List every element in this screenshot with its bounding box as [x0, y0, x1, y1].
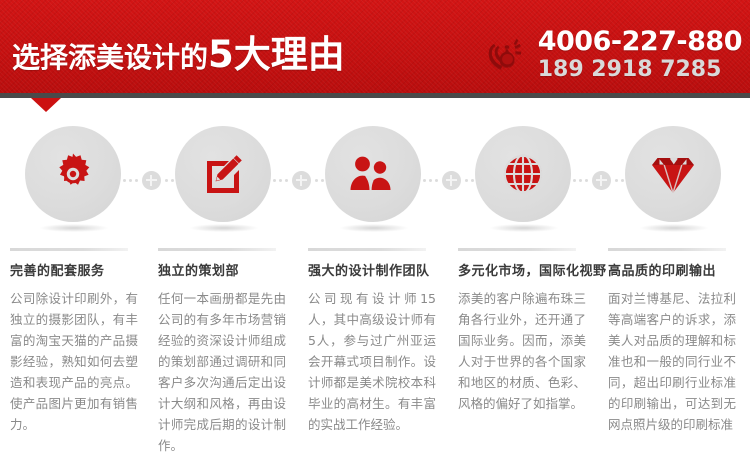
header-notch-arrow [31, 98, 61, 112]
feature-column-5: 高品质的印刷输出 面对兰博基尼、法拉利等高端客户的诉求，添美人对品质的理解和标准… [608, 248, 750, 435]
circle-shadow [40, 224, 108, 232]
dotted-line-left [123, 179, 138, 182]
icon-row [0, 124, 750, 234]
icon-slot-5 [600, 124, 750, 234]
column-title: 强大的设计制作团队 [308, 260, 468, 279]
globe-icon [475, 126, 571, 222]
column-title: 完善的配套服务 [10, 260, 160, 279]
diamond-icon [625, 126, 721, 222]
dotted-line-left [423, 179, 438, 182]
phone-secondary: 189 2918 7285 [538, 59, 722, 81]
column-divider [158, 248, 276, 251]
feature-column-4: 多元化市场，国际化视野 添美的客户除遍布珠三角各行业外，还开通了国际业务。因而，… [458, 248, 618, 414]
column-title: 高品质的印刷输出 [608, 260, 750, 279]
column-title: 独立的策划部 [158, 260, 308, 279]
header-band: 选择添美设计的5大理由 [0, 0, 750, 98]
feature-column-2: 独立的策划部 任何一本画册都是先由公司的有多年市场营销经验的资深设计师组成的策划… [158, 248, 308, 456]
phone-primary: 4006-227-880 [538, 28, 742, 55]
column-body: 公司现有设计师15人，其中高级设计师有5人，参与过广州亚运会开幕式项目制作。设计… [308, 288, 436, 435]
feature-column-3: 强大的设计制作团队 公司现有设计师15人，其中高级设计师有5人，参与过广州亚运会… [308, 248, 468, 435]
circle-shadow [190, 224, 258, 232]
circle-shadow [490, 224, 558, 232]
header-underline [0, 93, 750, 98]
gear-icon [25, 126, 121, 222]
column-divider [10, 248, 128, 251]
dotted-line-left [573, 179, 588, 182]
column-divider [308, 248, 426, 251]
column-body: 添美的客户除遍布珠三角各行业外，还开通了国际业务。因而，添美人对于世界的各个国家… [458, 288, 586, 414]
column-body: 面对兰博基尼、法拉利等高端客户的诉求，添美人对品质的理解和标准也和一般的同行业不… [608, 288, 736, 435]
promo-banner: 选择添美设计的5大理由 [0, 0, 750, 459]
people-group-icon [325, 126, 421, 222]
page-title-emphasis: 5大理由 [208, 33, 345, 76]
phone-bag-icon [484, 32, 530, 78]
column-body: 任何一本画册都是先由公司的有多年市场营销经验的资深设计师组成的策划部通过调研和同… [158, 288, 286, 456]
feature-column-1: 完善的配套服务 公司除设计印刷外，有独立的摄影团队，有丰富的淘宝天猫的产品摄影经… [10, 248, 160, 435]
circle-shadow [640, 224, 708, 232]
edit-pencil-icon [175, 126, 271, 222]
column-title: 多元化市场，国际化视野 [458, 260, 618, 279]
dotted-line-left [273, 179, 288, 182]
column-divider [458, 248, 576, 251]
contact-block: 4006-227-880 189 2918 7285 [484, 28, 742, 81]
circle-shadow [340, 224, 408, 232]
column-divider [608, 248, 726, 251]
column-body: 公司除设计印刷外，有独立的摄影团队，有丰富的淘宝天猫的产品摄影经验，熟知如何去塑… [10, 288, 138, 435]
page-title-prefix: 选择添美设计的 [12, 41, 208, 74]
page-title: 选择添美设计的5大理由 [12, 35, 345, 78]
phone-numbers: 4006-227-880 189 2918 7285 [538, 28, 742, 81]
